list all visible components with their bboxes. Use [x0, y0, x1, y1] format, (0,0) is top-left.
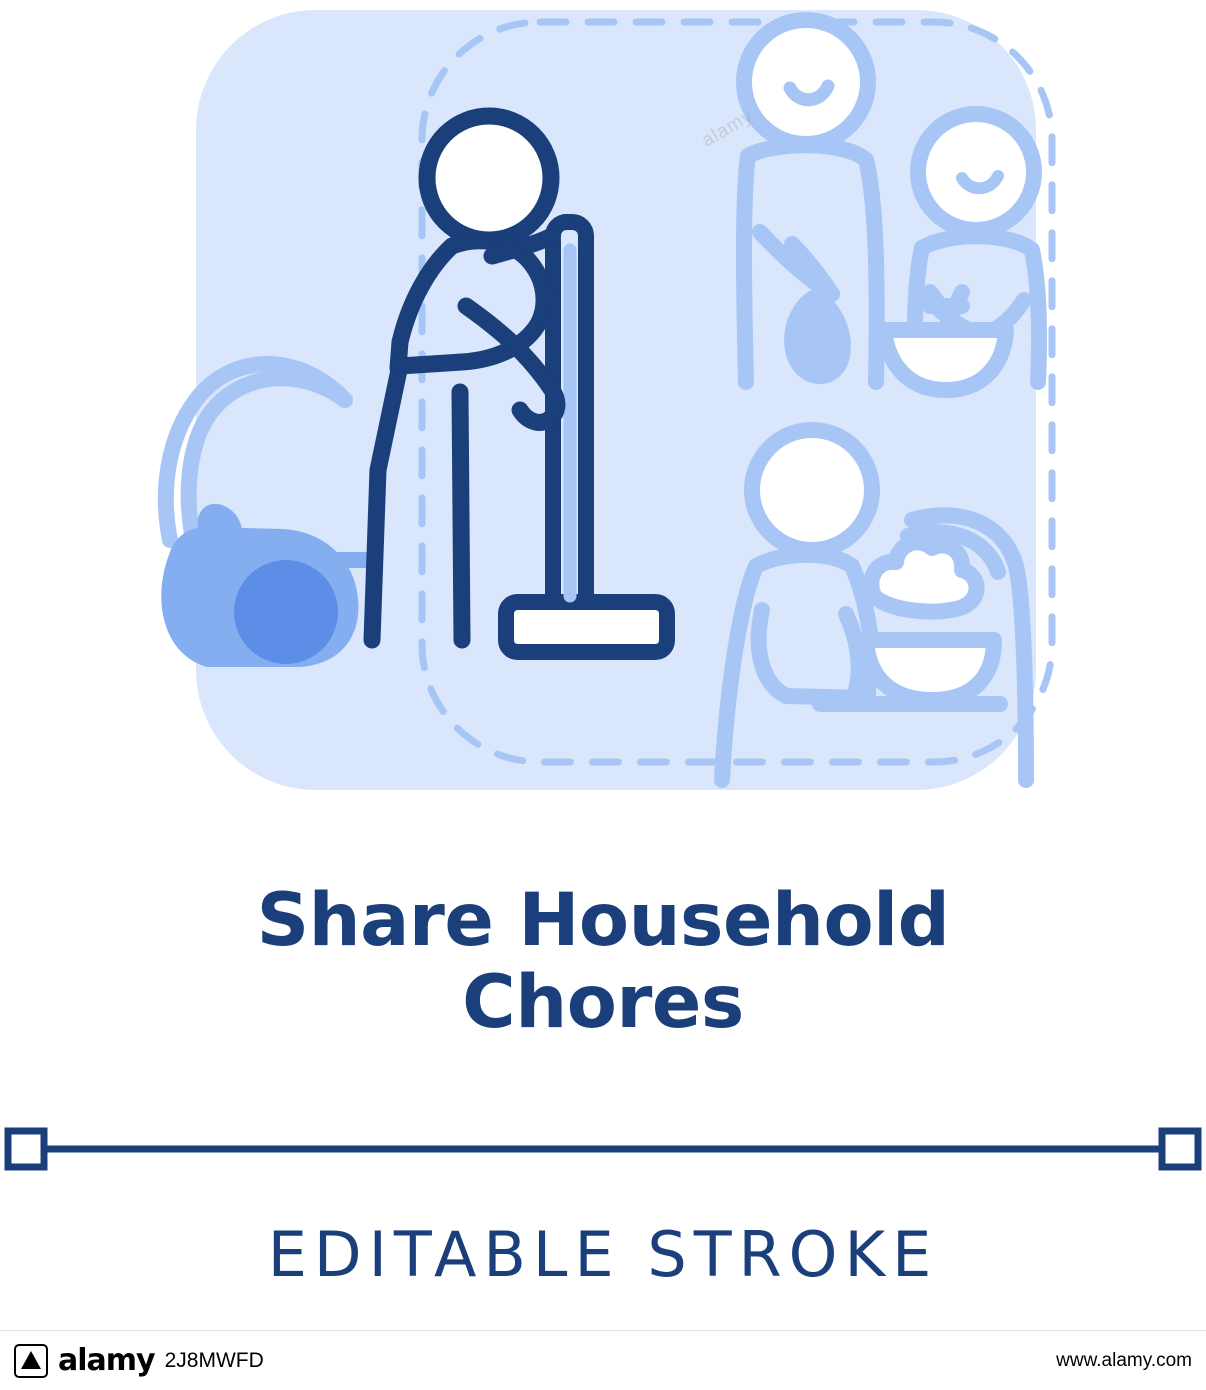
watermark-url: www.alamy.com — [1056, 1350, 1192, 1372]
watermark-image-id: 2J8MWFD — [165, 1349, 264, 1373]
watermark-bar: alamy 2J8MWFD www.alamy.com — [0, 1330, 1206, 1390]
editable-stroke-label: EDITABLE STROKE — [0, 1218, 1206, 1291]
illustration-area — [0, 0, 1206, 860]
page-title: Share Household Chores — [0, 880, 1206, 1044]
alamy-logo-icon — [14, 1344, 48, 1378]
left-handle — [8, 1131, 44, 1167]
title-line-2: Chores — [0, 962, 1206, 1044]
stroke-marker — [0, 1118, 1206, 1180]
watermark-logo: alamy — [58, 1343, 155, 1378]
right-handle — [1162, 1131, 1198, 1167]
title-line-1: Share Household — [0, 880, 1206, 962]
image-canvas: alamy Share Household Chores EDITABLE ST… — [0, 0, 1206, 1390]
